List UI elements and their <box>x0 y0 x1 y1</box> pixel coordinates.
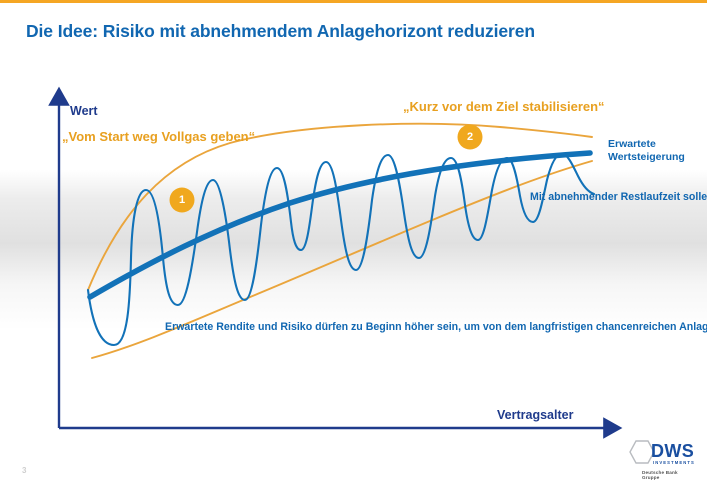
dws-logo-group: Deutsche Bank Gruppe <box>642 470 696 480</box>
callout-badge-1-number: 1 <box>170 194 194 206</box>
oscillating-value-curve <box>88 154 594 345</box>
callout-quote-2: „Kurz vor dem Ziel stabilisieren“ <box>403 99 605 114</box>
callout-quote-1: „Vom Start weg Vollgas geben“ <box>62 129 255 144</box>
x-axis-label: Vertragsalter <box>497 408 573 422</box>
y-axis-label: Wert <box>70 104 98 118</box>
dws-logo-tagline: INVESTMENTS <box>653 460 695 465</box>
slide-canvas: Die Idee: Risiko mit abnehmendem Anlageh… <box>0 0 707 489</box>
page-number: 3 <box>22 466 26 475</box>
callout-badge-2-number: 2 <box>458 131 482 143</box>
right-explainer-paragraph: Mit abnehmender Restlaufzeit sollen erwa… <box>530 190 705 204</box>
dws-logo-wordmark: DWS <box>651 441 694 462</box>
risk-horizon-diagram <box>0 0 707 489</box>
dws-logo: DWS INVESTMENTS Deutsche Bank Gruppe <box>620 437 696 483</box>
series-label-expected-growth: Erwartete Wertsteigerung <box>608 138 685 164</box>
bottom-explainer-paragraph: Erwartete Rendite und Risiko dürfen zu B… <box>165 320 485 334</box>
